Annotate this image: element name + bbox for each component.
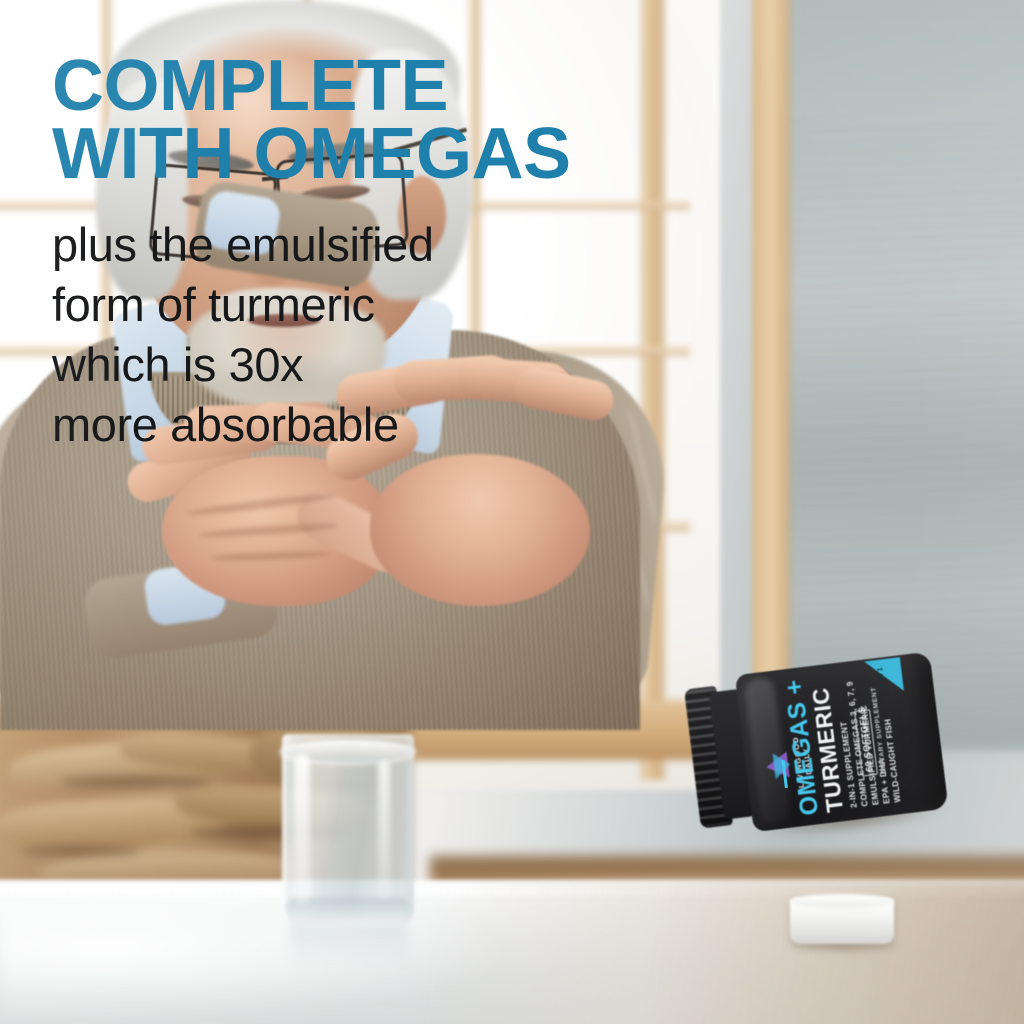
advertisement-image: 2 IN 1 LIVINGOOD DAILY OMEGAS + TURMERIC… bbox=[0, 0, 1024, 1024]
subheadline-line-2: form of turmeric bbox=[52, 275, 752, 335]
subheadline-line-4: more absorbable bbox=[52, 395, 752, 455]
glass-highlight bbox=[378, 760, 390, 900]
headline-line-1: COMPLETE bbox=[52, 52, 752, 120]
headline-line-2: WITH OMEGAS bbox=[52, 120, 752, 188]
ad-copy-block: COMPLETE WITH OMEGAS plus the emulsified… bbox=[52, 52, 752, 455]
glass-highlight bbox=[294, 754, 310, 904]
supplement-bottle: 2 IN 1 LIVINGOOD DAILY OMEGAS + TURMERIC… bbox=[683, 651, 949, 840]
firewood-shadow bbox=[20, 846, 140, 856]
subheadline: plus the emulsified form of turmeric whi… bbox=[52, 215, 752, 456]
glass-of-water bbox=[282, 734, 414, 944]
subheadline-line-1: plus the emulsified bbox=[52, 215, 752, 275]
background-exterior-texture bbox=[790, 120, 1024, 740]
two-in-one-badge-label: 2 IN 1 bbox=[876, 659, 901, 687]
glass-reflection bbox=[290, 924, 408, 968]
table-light-glow bbox=[0, 900, 520, 1024]
headline: COMPLETE WITH OMEGAS bbox=[52, 52, 752, 189]
subheadline-line-3: which is 30x bbox=[52, 335, 752, 395]
bottle-cap-top bbox=[790, 894, 894, 908]
firewood-shadow bbox=[60, 776, 210, 788]
palm bbox=[370, 454, 590, 606]
